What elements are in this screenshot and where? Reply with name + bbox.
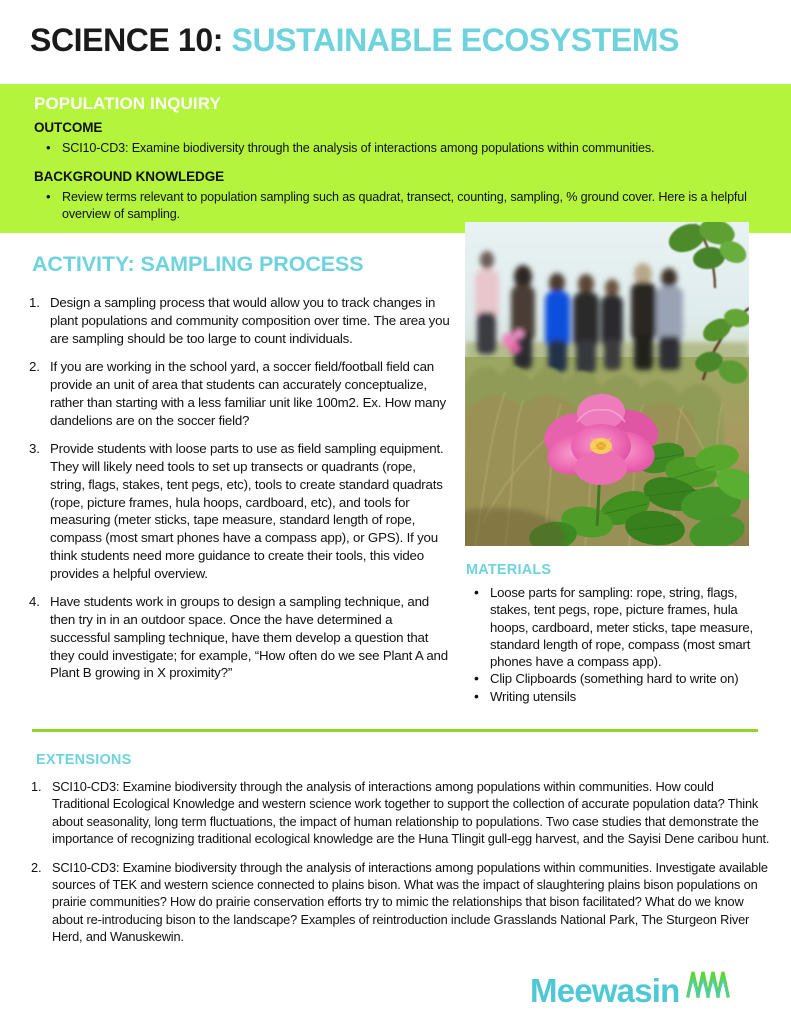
meewasin-logo-text: Meewasin (530, 974, 680, 1007)
extensions-heading: EXTENSIONS (36, 752, 131, 768)
outcome-list: SCI10-CD3: Examine biodiversity through … (46, 140, 776, 157)
list-item: Loose parts for sampling: rope, string, … (470, 584, 770, 670)
list-item: SCI10-CD3: Examine biodiversity through … (46, 140, 776, 157)
list-item: Writing utensils (470, 688, 770, 705)
background-knowledge-list: Review terms relevant to population samp… (46, 189, 758, 222)
page-title: SCIENCE 10: SUSTAINABLE ECOSYSTEMS (30, 24, 679, 58)
activity-steps-list: Design a sampling process that would all… (29, 294, 454, 693)
list-item: If you are working in the school yard, a… (29, 358, 454, 429)
page-title-subject: SUSTAINABLE ECOSYSTEMS (232, 22, 680, 58)
list-item: SCI10-CD3: Examine biodiversity through … (29, 778, 771, 848)
meewasin-logo: Meewasin (530, 966, 736, 1007)
materials-heading: MATERIALS (466, 562, 551, 578)
list-item: SCI10-CD3: Examine biodiversity through … (29, 859, 771, 946)
list-item: Review terms relevant to population samp… (46, 189, 758, 222)
background-knowledge-label: BACKGROUND KNOWLEDGE (34, 169, 224, 184)
list-item: Provide students with loose parts to use… (29, 440, 454, 582)
extensions-list: SCI10-CD3: Examine biodiversity through … (29, 778, 771, 957)
population-inquiry-banner: POPULATION INQUIRY OUTCOME SCI10-CD3: Ex… (0, 84, 791, 233)
materials-list: Loose parts for sampling: rope, string, … (470, 584, 770, 705)
outcome-label: OUTCOME (34, 120, 102, 135)
meewasin-wave-mark-icon (684, 966, 736, 1005)
prairie-rose-photo (465, 222, 749, 546)
list-item: Design a sampling process that would all… (29, 294, 454, 347)
list-item: Have students work in groups to design a… (29, 593, 454, 682)
banner-heading: POPULATION INQUIRY (34, 94, 221, 114)
section-divider (32, 729, 758, 732)
activity-heading: ACTIVITY: SAMPLING PROCESS (32, 252, 363, 277)
page-title-prefix: SCIENCE 10: (30, 22, 223, 58)
list-item: Clip Clipboards (something hard to write… (470, 670, 770, 687)
